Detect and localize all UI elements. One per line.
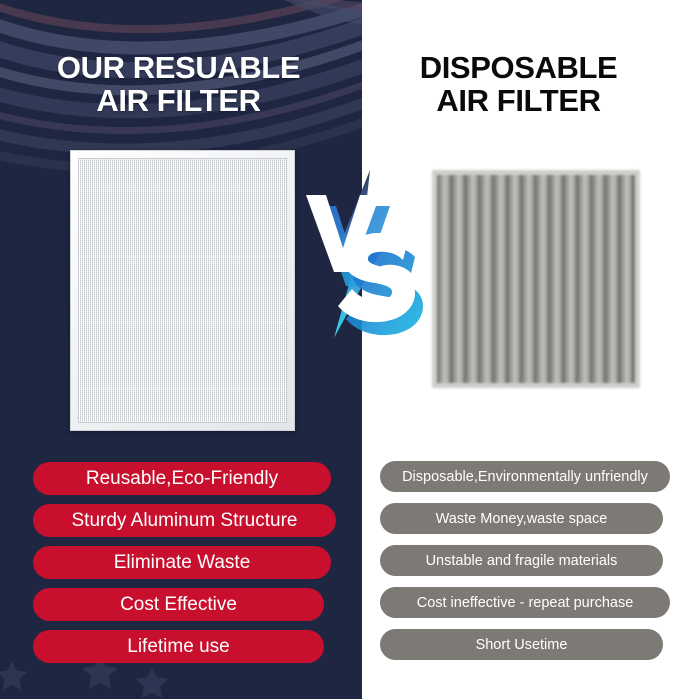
left-feature-pill[interactable]: Eliminate Waste xyxy=(33,546,331,579)
right-feature-pill[interactable]: Cost ineffective - repeat purchase xyxy=(380,587,670,618)
left-headline: OUR RESUABLE AIR FILTER xyxy=(6,52,351,118)
right-feature-pill[interactable]: Waste Money,waste space xyxy=(380,503,663,534)
left-feature-pill[interactable]: Lifetime use xyxy=(33,630,324,663)
left-feature-pill[interactable]: Reusable,Eco-Friendly xyxy=(33,462,331,495)
versus-lightning-logo-icon xyxy=(296,168,424,340)
reusable-filter-mesh xyxy=(78,158,287,423)
right-feature-pill[interactable]: Disposable,Environmentally unfriendly xyxy=(380,461,670,492)
disposable-filter-image xyxy=(432,170,640,388)
right-feature-pill[interactable]: Unstable and fragile materials xyxy=(380,545,663,576)
right-feature-pill[interactable]: Short Usetime xyxy=(380,629,663,660)
right-headline: DISPOSABLE AIR FILTER xyxy=(366,52,671,118)
disposable-filter-pleats xyxy=(437,175,635,383)
left-feature-pill[interactable]: Sturdy Aluminum Structure xyxy=(33,504,336,537)
comparison-infographic: OUR RESUABLE AIR FILTER DISPOSABLE AIR F… xyxy=(0,0,679,699)
left-feature-pill[interactable]: Cost Effective xyxy=(33,588,324,621)
reusable-filter-image xyxy=(70,150,295,431)
